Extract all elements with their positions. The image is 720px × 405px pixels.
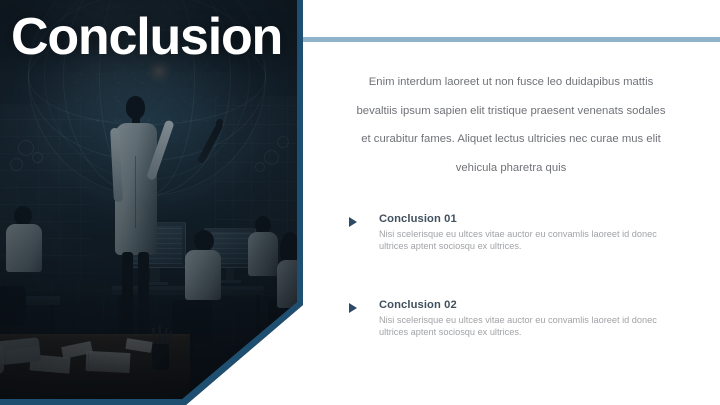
triangle-right-icon (349, 303, 357, 313)
list-item-title: Conclusion 01 (379, 213, 679, 225)
list-item[interactable]: Conclusion 01 Nisi scelerisque eu ultces… (349, 213, 679, 253)
page-title: Conclusion (11, 9, 282, 65)
list-item-description: Nisi scelerisque eu ultces vitae auctor … (379, 314, 679, 339)
triangle-right-icon (349, 217, 357, 227)
list-item[interactable]: Conclusion 02 Nisi scelerisque eu ultces… (349, 299, 679, 339)
accent-divider (303, 37, 720, 42)
conclusion-bullet-list: Conclusion 01 Nisi scelerisque eu ultces… (349, 213, 679, 339)
list-item-description: Nisi scelerisque eu ultces vitae auctor … (379, 228, 679, 253)
list-item-title: Conclusion 02 (379, 299, 679, 311)
body-paragraph: Enim interdum laoreet ut non fusce leo d… (352, 68, 670, 182)
